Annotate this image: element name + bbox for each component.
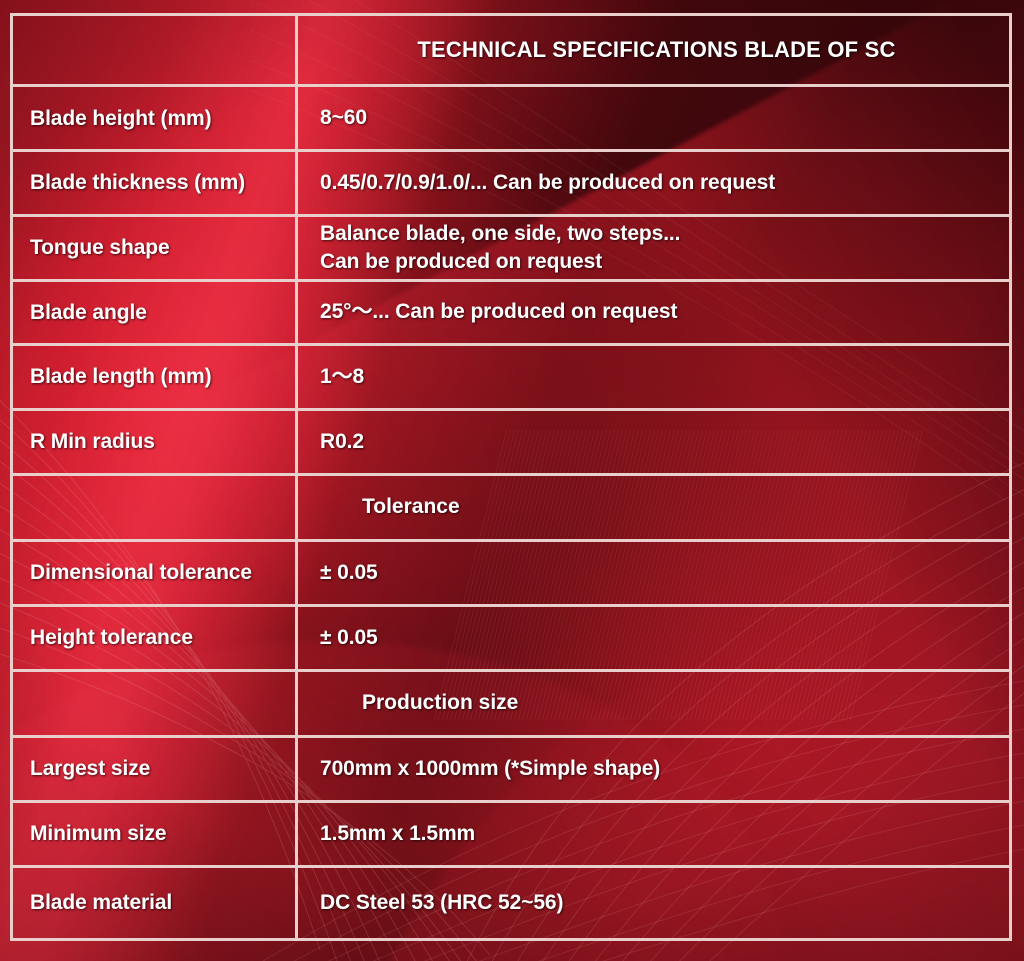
row-value: 0.45/0.7/0.9/1.0/... Can be produced on …: [320, 169, 775, 197]
row-value: 1〜8: [320, 363, 364, 391]
row-value-cell: 1.5mm x 1.5mm: [298, 803, 1009, 865]
row-label-cell: R Min radius: [13, 411, 298, 473]
table-row: Minimum size 1.5mm x 1.5mm: [13, 803, 1009, 868]
row-value-cell: 700mm x 1000mm (*Simple shape): [298, 738, 1009, 800]
row-label: R Min radius: [30, 429, 155, 454]
table-row: Height tolerance ± 0.05: [13, 607, 1009, 672]
row-value-cell: ± 0.05: [298, 542, 1009, 604]
row-label-cell: Minimum size: [13, 803, 298, 865]
table-row: R Min radius R0.2: [13, 411, 1009, 476]
row-value: 25°〜... Can be produced on request: [320, 298, 677, 326]
row-label: Blade material: [30, 890, 172, 915]
table-title-row: TECHNICAL SPECIFICATIONS BLADE OF SC: [13, 16, 1009, 87]
row-label-cell: Blade length (mm): [13, 346, 298, 408]
table-row: Tongue shape Balance blade, one side, tw…: [13, 217, 1009, 282]
row-label: Largest size: [30, 756, 150, 781]
row-label-cell: Blade height (mm): [13, 87, 298, 149]
row-value-cell: R0.2: [298, 411, 1009, 473]
table-row: Blade height (mm) 8~60: [13, 87, 1009, 152]
row-value-cell: 1〜8: [298, 346, 1009, 408]
section-header-cell: Production size: [298, 672, 1009, 736]
table-row: Blade angle 25°〜... Can be produced on r…: [13, 282, 1009, 347]
row-value-cell: ± 0.05: [298, 607, 1009, 669]
row-value: R0.2: [320, 428, 364, 456]
row-value-cell: 8~60: [298, 87, 1009, 149]
row-value-cell: 25°〜... Can be produced on request: [298, 282, 1009, 344]
row-label: Minimum size: [30, 821, 167, 846]
section-row-empty-cell: [13, 672, 298, 736]
row-value: 700mm x 1000mm (*Simple shape): [320, 755, 660, 783]
row-label-cell: Blade angle: [13, 282, 298, 344]
row-label-cell: Dimensional tolerance: [13, 542, 298, 604]
specifications-table: TECHNICAL SPECIFICATIONS BLADE OF SC Bla…: [10, 13, 1012, 941]
table-row: Largest size 700mm x 1000mm (*Simple sha…: [13, 738, 1009, 803]
row-label: Tongue shape: [30, 235, 170, 260]
table-row: Blade material DC Steel 53 (HRC 52~56): [13, 868, 1009, 938]
row-value-cell: Balance blade, one side, two steps... Ca…: [298, 217, 1009, 279]
table-row: Blade length (mm) 1〜8: [13, 346, 1009, 411]
row-label: Blade thickness (mm): [30, 170, 245, 195]
row-value: DC Steel 53 (HRC 52~56): [320, 889, 563, 917]
section-header-tolerance: Tolerance: [320, 495, 460, 519]
row-value: Balance blade, one side, two steps... Ca…: [320, 220, 680, 275]
row-label: Height tolerance: [30, 625, 193, 650]
row-value: ± 0.05: [320, 559, 378, 587]
section-row-empty-cell: [13, 476, 298, 540]
section-header-row-production: Production size: [13, 672, 1009, 739]
section-header-row-tolerance: Tolerance: [13, 476, 1009, 543]
row-label-cell: Height tolerance: [13, 607, 298, 669]
row-label-cell: Blade thickness (mm): [13, 152, 298, 214]
title-row-empty-cell: [13, 16, 298, 84]
row-label-cell: Largest size: [13, 738, 298, 800]
row-label: Blade length (mm): [30, 364, 211, 389]
section-header-cell: Tolerance: [298, 476, 1009, 540]
row-label: Blade angle: [30, 300, 147, 325]
table-row: Dimensional tolerance ± 0.05: [13, 542, 1009, 607]
specification-table-page: TECHNICAL SPECIFICATIONS BLADE OF SC Bla…: [0, 0, 1024, 961]
section-header-production-size: Production size: [320, 691, 518, 715]
page-title: TECHNICAL SPECIFICATIONS BLADE OF SC: [320, 37, 999, 63]
row-value-cell: DC Steel 53 (HRC 52~56): [298, 868, 1009, 938]
row-value: 1.5mm x 1.5mm: [320, 820, 475, 848]
table-row: Blade thickness (mm) 0.45/0.7/0.9/1.0/..…: [13, 152, 1009, 217]
row-value: 8~60: [320, 104, 367, 132]
row-label-cell: Tongue shape: [13, 217, 298, 279]
row-label-cell: Blade material: [13, 868, 298, 938]
title-cell: TECHNICAL SPECIFICATIONS BLADE OF SC: [298, 16, 1009, 84]
row-value-cell: 0.45/0.7/0.9/1.0/... Can be produced on …: [298, 152, 1009, 214]
row-label: Dimensional tolerance: [30, 560, 252, 585]
row-label: Blade height (mm): [30, 106, 211, 131]
row-value: ± 0.05: [320, 624, 378, 652]
